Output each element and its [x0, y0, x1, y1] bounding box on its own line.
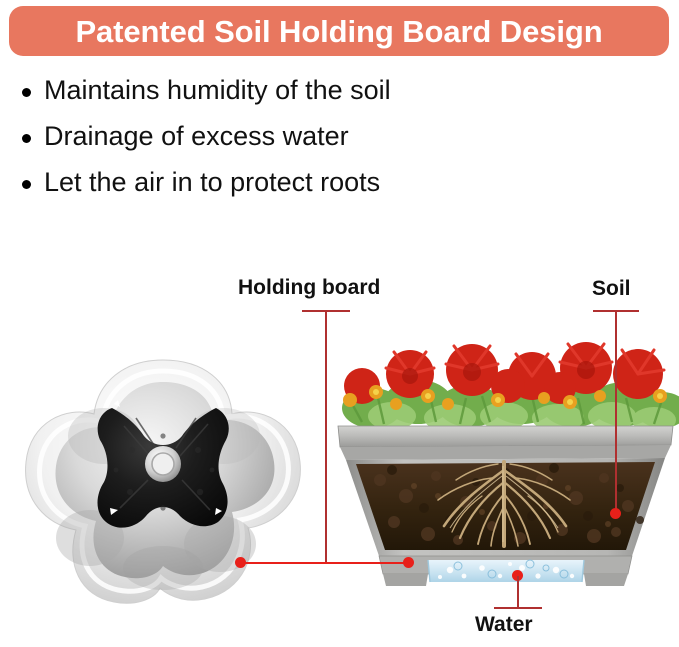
holding-board-marker-left: [235, 557, 246, 568]
list-item: Let the air in to protect roots: [22, 166, 542, 212]
planter-rim: [338, 426, 673, 447]
callout-label-soil: Soil: [592, 277, 631, 301]
bullet-dot-icon: [22, 88, 31, 97]
holding-board-leader-stem: [325, 310, 327, 563]
clover-pot-image: [8, 352, 318, 610]
planter-illustration: [332, 330, 679, 598]
bullet-dot-icon: [22, 134, 31, 143]
lobe-shadow: [123, 546, 203, 590]
planter-foot-left: [383, 574, 428, 586]
list-item: Drainage of excess water: [22, 120, 542, 166]
feature-text: Maintains humidity of the soil: [44, 74, 391, 107]
list-item: Maintains humidity of the soil: [22, 74, 542, 120]
feature-text: Let the air in to protect roots: [44, 166, 380, 199]
water-leader-cap: [494, 607, 542, 609]
planter-foot-right: [584, 574, 628, 586]
callout-label-water: Water: [475, 613, 533, 637]
callout-label-holding-board: Holding board: [238, 276, 380, 300]
clover-pot-illustration: [8, 352, 318, 610]
holding-board-leader-run: [240, 562, 410, 564]
soil-marker: [610, 508, 621, 519]
header-banner: Patented Soil Holding Board Design: [9, 6, 669, 56]
bullet-dot-icon: [22, 180, 31, 189]
feature-list: Maintains humidity of the soil Drainage …: [22, 74, 542, 212]
planter-cross-section-image: [332, 330, 679, 598]
infographic-page: Patented Soil Holding Board Design Maint…: [0, 0, 679, 647]
holding-board-marker-right: [403, 557, 414, 568]
soil-leader-stem: [615, 310, 617, 513]
planter-rim-underside: [340, 445, 671, 460]
feature-text: Drainage of excess water: [44, 120, 349, 153]
water-leader-stem: [517, 576, 519, 608]
page-title: Patented Soil Holding Board Design: [75, 16, 602, 47]
